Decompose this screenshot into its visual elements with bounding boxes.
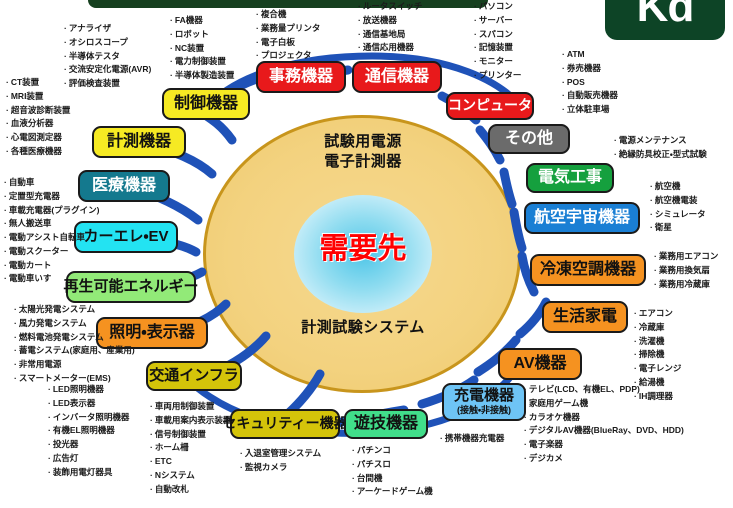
leaf-item: 装飾用電灯器具: [48, 466, 129, 480]
leaf-list-kotsu-infra: 車両用制御装置車載用案内表示装置信号制御装置ホーム柵ETCNシステム自動改札: [150, 400, 231, 496]
leaf-list-saisei-energy: 太陽光発電システム風力発電システム燃料電池発電システム蓄電システム(家庭用、産業…: [14, 303, 135, 386]
leaf-item: 業務用エアコン: [654, 250, 718, 264]
leaf-item: LED表示器: [48, 397, 129, 411]
leaf-item: 心電図測定器: [6, 131, 70, 145]
leaf-item: 券売機器: [562, 62, 618, 76]
leaf-list-reito-kuchou: 業務用エアコン業務用換気扇業務用冷蔵庫: [654, 250, 718, 291]
leaf-item: 監視カメラ: [240, 461, 321, 475]
leaf-item: 電子白板: [256, 36, 320, 50]
leaf-item: 通信基地局: [358, 28, 422, 42]
leaf-item: Nシステム: [150, 469, 231, 483]
leaf-item: POS: [562, 76, 618, 90]
category-chip-jimu-kiki[interactable]: 事務機器: [256, 61, 346, 93]
category-chip-sonota[interactable]: その他: [488, 124, 570, 154]
leaf-item: 記憶装置: [474, 41, 521, 55]
leaf-list-keisoku-kiki: アナライザオシロスコープ半導体テスタ交流安定化電源(AVR)評価検査装置: [64, 22, 151, 91]
ring-bottom-label: 計測試験システム: [233, 318, 493, 338]
leaf-item: 各種医療機器: [6, 145, 70, 159]
leaf-item: 電力制御装置: [170, 55, 234, 69]
leaf-item: 車載充電器(プラグイン): [4, 204, 100, 218]
leaf-item: 台間機: [352, 472, 433, 486]
category-label: 充電機器: [454, 388, 514, 405]
leaf-item: 非常用電源: [14, 358, 135, 372]
leaf-item: 立体駐車場: [562, 103, 618, 117]
leaf-item: 入退室管理システム: [240, 447, 321, 461]
category-label: コンピュータ: [448, 98, 532, 113]
leaf-item: 放送機器: [358, 14, 422, 28]
category-chip-keisoku-kiki[interactable]: 計測機器: [92, 126, 186, 158]
leaf-item: 電源メンテナンス: [614, 134, 707, 148]
leaf-list-seikatsu-kaden: エアコン冷蔵庫洗濯機掃除機電子レンジ給湯機IH調理器: [634, 307, 681, 403]
leaf-item: 投光器: [48, 438, 129, 452]
category-label: セキュリティー機器: [222, 416, 347, 431]
leaf-item: 電動スクーター: [4, 245, 100, 259]
leaf-item: 自動車: [4, 176, 100, 190]
leaf-item: 信号制御装置: [150, 428, 231, 442]
leaf-item: プロジェクタ: [256, 49, 320, 63]
category-chip-tsushin-kiki[interactable]: 通信機器: [352, 61, 442, 93]
leaf-item: 評価検査装置: [64, 77, 151, 91]
ring-top-label: 試験用電源 電子計測器: [233, 132, 493, 173]
category-label: 電気工事: [538, 169, 602, 187]
leaf-item: NC装置: [170, 42, 234, 56]
leaf-item: ロボット: [170, 28, 234, 42]
category-chip-koku-uchu[interactable]: 航空宇宙機器: [524, 202, 640, 234]
leaf-item: CT装置: [6, 76, 70, 90]
leaf-item: 半導体テスタ: [64, 50, 151, 64]
leaf-item: 航空機: [650, 180, 706, 194]
leaf-list-seigyo-kiki: FA機器ロボットNC装置電力制御装置半導体製造装置: [170, 14, 234, 83]
leaf-item: 業務用換気扇: [654, 264, 718, 278]
leaf-list-yugi-kiki: パチンコパチスロ台間機アーケードゲーム機: [352, 444, 433, 499]
leaf-item: 交流安定化電源(AVR): [64, 63, 151, 77]
leaf-item: 複合機: [256, 8, 320, 22]
leaf-item: オシロスコープ: [64, 36, 151, 50]
category-chip-reito-kuchou[interactable]: 冷凍空調機器: [530, 254, 646, 286]
leaf-item: ルータスイッチ: [358, 0, 422, 14]
leaf-item: 電動アシスト自転車: [4, 231, 100, 245]
leaf-item: デジタルAV機器(BlueRay、DVD、HDD): [524, 424, 684, 438]
category-chip-yugi-kiki[interactable]: 遊技機器: [344, 409, 428, 439]
category-label: 医療機器: [92, 177, 156, 195]
diagram-canvas: Kd 試験用電源 電子計測器 需要先 計測試験システム: [0, 0, 733, 508]
leaf-item: プリンター: [474, 69, 521, 83]
leaf-item: 電子レンジ: [634, 362, 681, 376]
leaf-item: アーケードゲーム機: [352, 485, 433, 499]
leaf-item: FA機器: [170, 14, 234, 28]
company-logo: Kd: [605, 0, 725, 40]
leaf-item: ETC: [150, 455, 231, 469]
leaf-item: 太陽光発電システム: [14, 303, 135, 317]
leaf-item: 衛星: [650, 221, 706, 235]
top-banner: [88, 0, 488, 8]
leaf-list-computer: パソコンサーバースパコン記憶装置モニタープリンター: [474, 0, 521, 83]
leaf-list-koku-uchu: 航空機航空機電装シミュレータ衛星: [650, 180, 706, 235]
leaf-item: 血液分析器: [6, 117, 70, 131]
leaf-item: 自動販売機器: [562, 89, 618, 103]
leaf-item: 車載用案内表示装置: [150, 414, 231, 428]
leaf-list-jimu-kiki: 複合機業務量プリンタ電子白板プロジェクタ: [256, 8, 320, 63]
leaf-item: 給湯機: [634, 376, 681, 390]
leaf-item: ホーム柵: [150, 441, 231, 455]
leaf-item: 車両用制御装置: [150, 400, 231, 414]
category-label: 遊技機器: [354, 415, 418, 433]
leaf-item: 業務量プリンタ: [256, 22, 320, 36]
category-label: 冷凍空調機器: [540, 261, 636, 279]
leaf-item: 絶縁防具校正・型式試験: [614, 148, 707, 162]
leaf-item: IH調理器: [634, 390, 681, 404]
leaf-list-car-ele-ev: 自動車定置型充電器車載充電器(プラグイン)無人搬送車電動アシスト自転車電動スクー…: [4, 176, 100, 286]
leaf-list-shomei-hyojiki: LED照明機器LED表示器インバータ照明機器有機EL照明機器投光器広告灯装飾用電…: [48, 383, 129, 479]
leaf-item: 電動カート: [4, 259, 100, 273]
leaf-item: インバータ照明機器: [48, 411, 129, 425]
leaf-item: 電子楽器: [524, 438, 684, 452]
leaf-item: パソコン: [474, 0, 521, 14]
leaf-item: 電動車いす: [4, 272, 100, 286]
leaf-item: 無人搬送車: [4, 217, 100, 231]
leaf-item: パチンコ: [352, 444, 433, 458]
category-label: 航空宇宙機器: [534, 209, 630, 227]
category-label: 計測機器: [107, 133, 171, 151]
category-sublabel: (接触・非接触): [457, 406, 511, 416]
leaf-item: 燃料電池発電システム: [14, 331, 135, 345]
leaf-item: デジカメ: [524, 452, 684, 466]
leaf-item: エアコン: [634, 307, 681, 321]
leaf-item: MRI装置: [6, 90, 70, 104]
leaf-item: 半導体製造装置: [170, 69, 234, 83]
leaf-item: 風力発電システム: [14, 317, 135, 331]
leaf-item: 業務用冷蔵庫: [654, 278, 718, 292]
category-chip-seikatsu-kaden[interactable]: 生活家電: [542, 301, 628, 333]
category-chip-av-kiki[interactable]: AV機器: [498, 348, 582, 380]
category-label: AV機器: [513, 355, 566, 373]
leaf-item: 有機EL照明機器: [48, 424, 129, 438]
leaf-item: 携帯機器充電器: [440, 432, 504, 446]
leaf-item: 通信応用機器: [358, 41, 422, 55]
leaf-item: 超音波診断装置: [6, 104, 70, 118]
leaf-list-juden-kiki: 携帯機器充電器: [440, 432, 504, 446]
leaf-item: アナライザ: [64, 22, 151, 36]
leaf-item: サーバー: [474, 14, 521, 28]
leaf-item: パチスロ: [352, 458, 433, 472]
ring-top-line1: 試験用電源: [233, 132, 493, 152]
category-label: 交通インフラ: [149, 368, 239, 385]
leaf-item: 掃除機: [634, 348, 681, 362]
category-label: 生活家電: [553, 308, 617, 326]
leaf-item: モニター: [474, 55, 521, 69]
leaf-list-tsushin-kiki: ルータスイッチ放送機器通信基地局通信応用機器: [358, 0, 422, 55]
category-label: 通信機器: [365, 68, 429, 86]
leaf-list-sonota: ATM券売機器POS自動販売機器立体駐車場: [562, 48, 618, 117]
leaf-item: 定置型充電器: [4, 190, 100, 204]
category-chip-computer[interactable]: コンピュータ: [446, 92, 534, 120]
leaf-item: 広告灯: [48, 452, 129, 466]
leaf-item: シミュレータ: [650, 208, 706, 222]
category-chip-kotsu-infra[interactable]: 交通インフラ: [146, 361, 242, 391]
leaf-item: LED照明機器: [48, 383, 129, 397]
leaf-list-denki-koji: 電源メンテナンス絶縁防具校正・型式試験: [614, 134, 707, 162]
leaf-item: 蓄電システム(家庭用、産業用): [14, 344, 135, 358]
category-label: その他: [505, 130, 553, 148]
category-chip-seigyo-kiki[interactable]: 制御機器: [162, 88, 250, 120]
leaf-list-security-kiki: 入退室管理システム監視カメラ: [240, 447, 321, 475]
ring-top-line2: 電子計測器: [233, 152, 493, 172]
leaf-item: 冷蔵庫: [634, 321, 681, 335]
category-chip-juden-kiki[interactable]: 充電機器(接触・非接触): [442, 383, 526, 421]
leaf-item: 自動改札: [150, 483, 231, 497]
category-label: 事務機器: [269, 68, 333, 86]
category-chip-denki-koji[interactable]: 電気工事: [526, 163, 614, 193]
leaf-item: スパコン: [474, 28, 521, 42]
leaf-list-iryo-kiki: CT装置MRI装置超音波診断装置血液分析器心電図測定器各種医療機器: [6, 76, 70, 159]
category-chip-security-kiki[interactable]: セキュリティー機器: [230, 409, 340, 439]
core-label: 需要先: [294, 225, 432, 267]
leaf-item: ATM: [562, 48, 618, 62]
leaf-item: 航空機電装: [650, 194, 706, 208]
leaf-item: カラオケ機器: [524, 411, 684, 425]
category-label: 制御機器: [174, 95, 238, 113]
leaf-item: 洗濯機: [634, 335, 681, 349]
